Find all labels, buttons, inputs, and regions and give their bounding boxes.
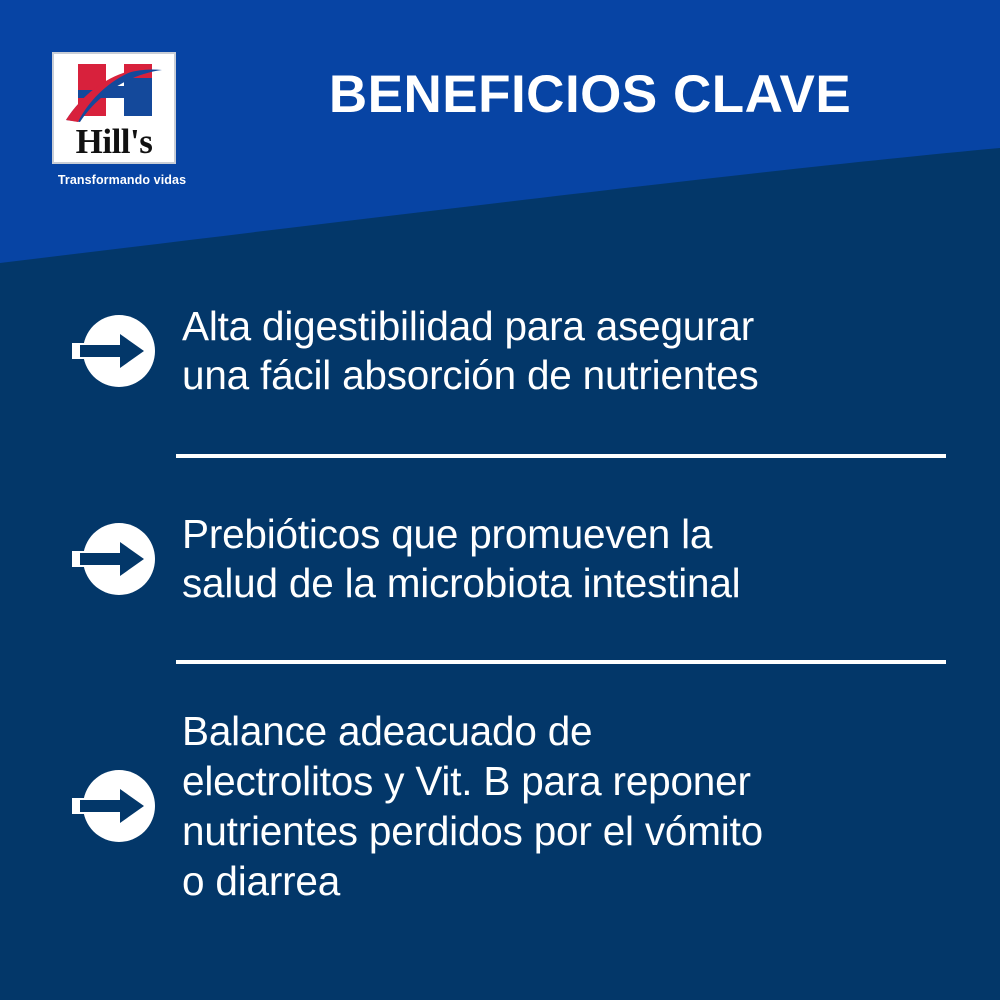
logo-card: Hill's — [52, 52, 176, 164]
divider-1-wrap — [0, 442, 1000, 470]
logo-wordmark: Hill's — [54, 124, 174, 160]
benefit-text-1: Alta digestibilidad para asegurar una fá… — [182, 302, 1000, 400]
arrow-right-circle-icon — [72, 523, 168, 595]
divider-1 — [176, 454, 946, 458]
brand-tagline: Transformando vidas — [52, 173, 192, 187]
benefit-item-2: Prebióticos que promueven la salud de la… — [0, 504, 1000, 614]
benefit-item-3: Balance adeacuado de electrolitos y Vit.… — [0, 706, 1000, 906]
benefit-line: nutrientes perdidos por el vómito — [182, 806, 960, 856]
page-title: BENEFICIOS CLAVE — [230, 66, 950, 124]
benefit-line: Prebióticos que promueven la — [182, 510, 960, 559]
benefit-line: Alta digestibilidad para asegurar — [182, 302, 960, 351]
brand-logo: Hill's Transformando vidas — [52, 52, 192, 187]
benefits-list: Alta digestibilidad para asegurar una fá… — [0, 296, 1000, 906]
arrow-right-circle-icon — [72, 770, 168, 842]
arrow-right-circle-icon — [72, 315, 168, 387]
benefit-line: o diarrea — [182, 856, 960, 906]
benefit-text-2: Prebióticos que promueven la salud de la… — [182, 510, 1000, 608]
benefit-line: electrolitos y Vit. B para reponer — [182, 756, 960, 806]
benefit-line: Balance adeacuado de — [182, 706, 960, 756]
benefit-line: una fácil absorción de nutrientes — [182, 351, 960, 400]
divider-2-wrap — [0, 648, 1000, 676]
key-benefits-poster: Hill's Transformando vidas BENEFICIOS CL… — [0, 0, 1000, 1000]
benefit-line: salud de la microbiota intestinal — [182, 559, 960, 608]
benefit-text-3: Balance adeacuado de electrolitos y Vit.… — [182, 706, 1000, 906]
hills-h-monogram-icon — [54, 58, 176, 124]
benefit-item-1: Alta digestibilidad para asegurar una fá… — [0, 296, 1000, 406]
divider-2 — [176, 660, 946, 664]
